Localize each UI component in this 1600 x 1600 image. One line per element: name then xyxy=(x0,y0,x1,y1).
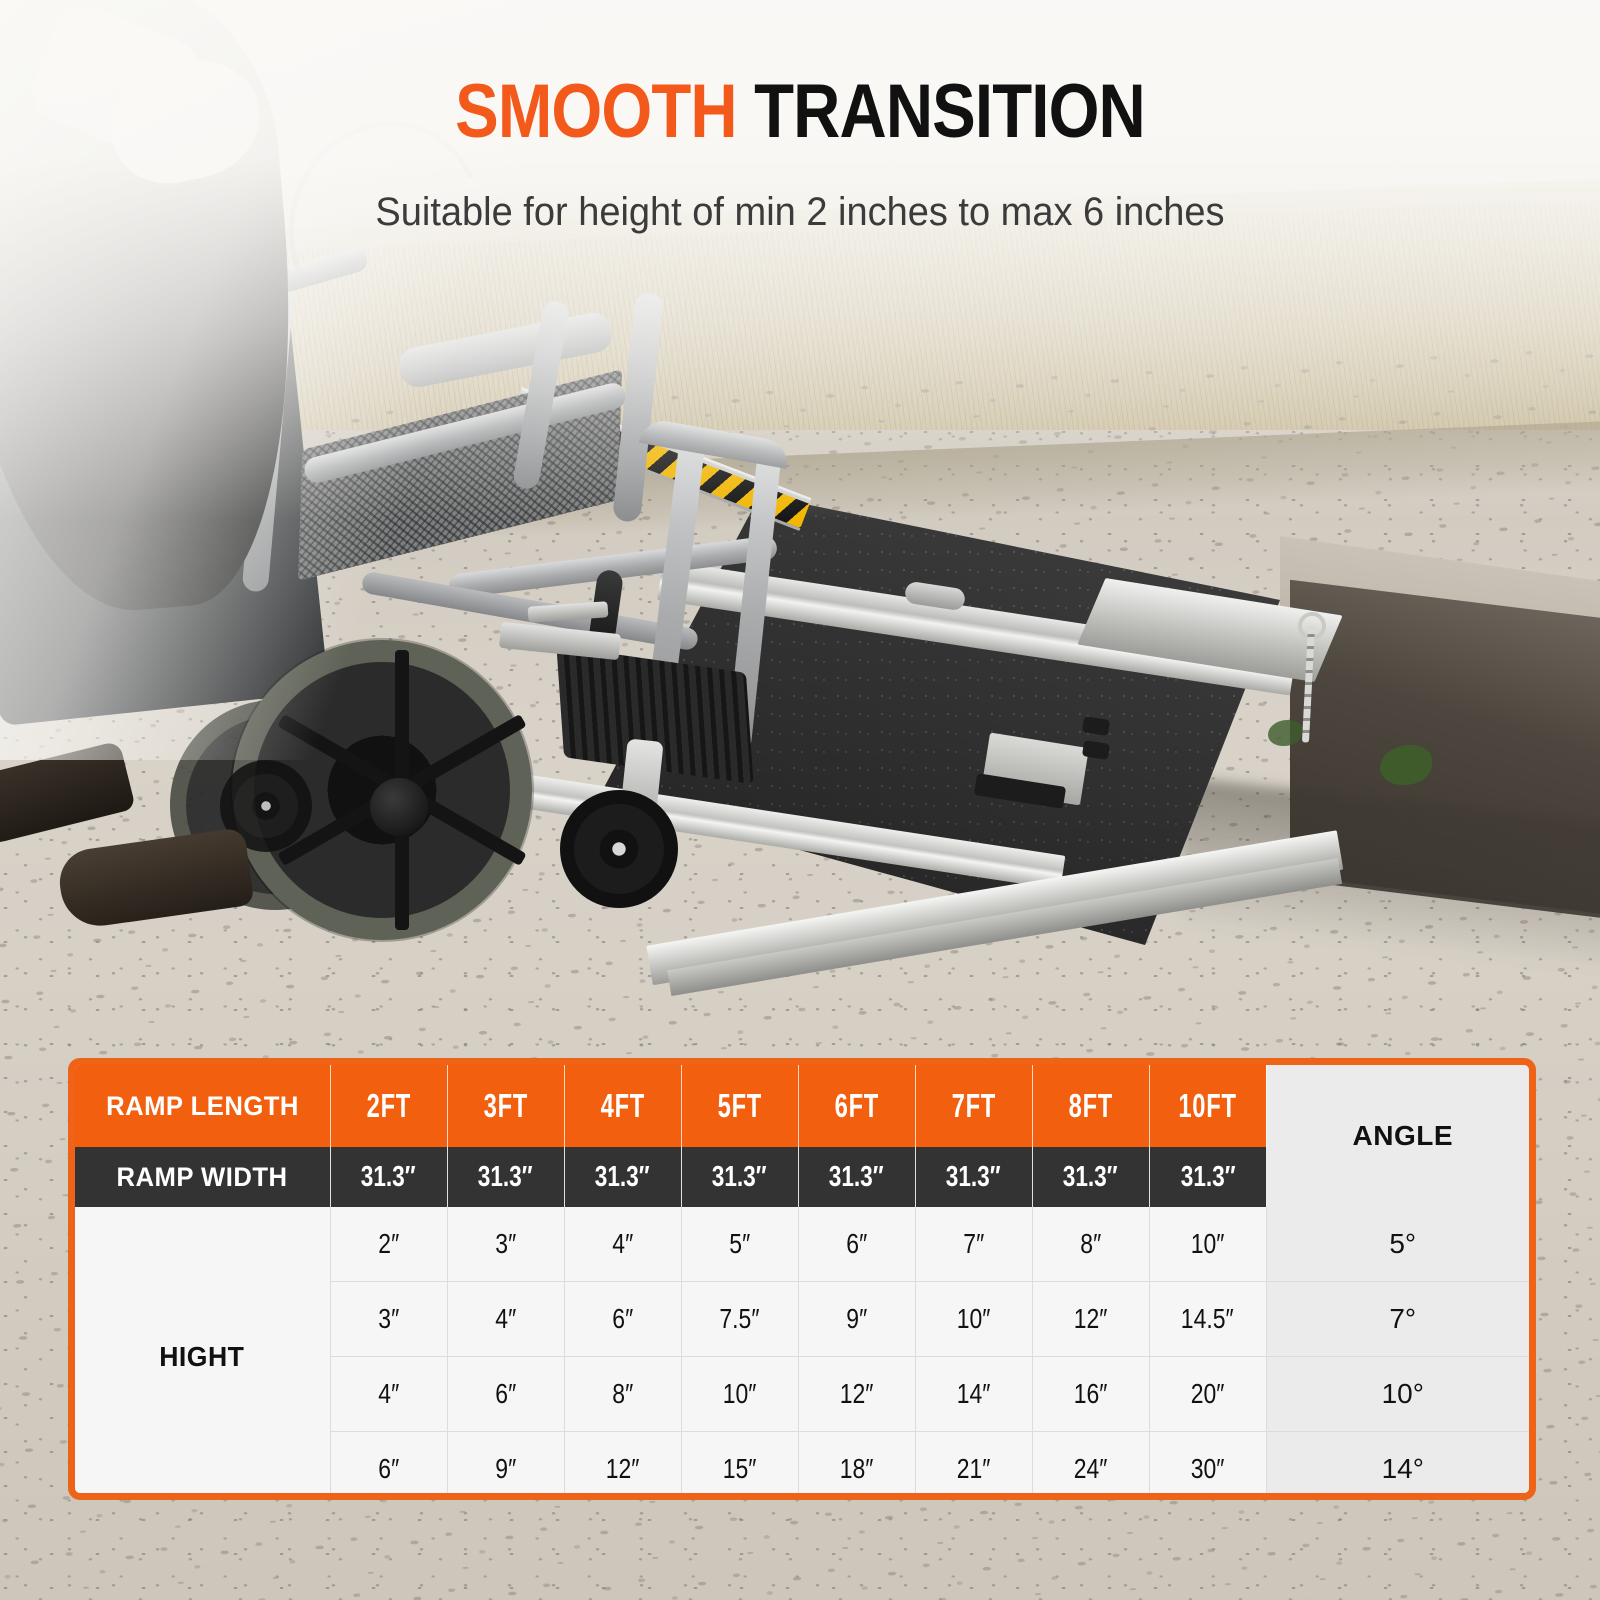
cell-h2-6: 16″ xyxy=(1032,1357,1149,1432)
width-5: 31.3″ xyxy=(915,1147,1032,1207)
header-length-5: 7FT xyxy=(915,1065,1032,1147)
header-length-0: 2FT xyxy=(330,1065,447,1147)
header-ramp-length: RAMP LENGTH xyxy=(75,1065,330,1147)
cell-h2-0: 4″ xyxy=(330,1357,447,1432)
cell-h1-6: 12″ xyxy=(1032,1282,1149,1357)
width-4: 31.3″ xyxy=(798,1147,915,1207)
cell-h1-1: 4″ xyxy=(447,1282,564,1357)
cell-h0-3: 5″ xyxy=(681,1207,798,1282)
cell-angle-2: 10° xyxy=(1266,1357,1536,1432)
cell-h0-0: 2″ xyxy=(330,1207,447,1282)
header-length-2: 4FT xyxy=(564,1065,681,1147)
cell-h3-5: 21″ xyxy=(915,1432,1032,1501)
shoe xyxy=(55,827,254,931)
title-rest: TRANSITION xyxy=(754,69,1145,154)
cell-h1-3: 7.5″ xyxy=(681,1282,798,1357)
cell-angle-0: 5° xyxy=(1266,1207,1536,1282)
header-length-6: 8FT xyxy=(1032,1065,1149,1147)
cell-h0-6: 8″ xyxy=(1032,1207,1149,1282)
cell-h1-2: 6″ xyxy=(564,1282,681,1357)
cell-h0-4: 6″ xyxy=(798,1207,915,1282)
header-ramp-width: RAMP WIDTH xyxy=(75,1147,330,1207)
cell-h2-1: 6″ xyxy=(447,1357,564,1432)
header-length-1: 3FT xyxy=(447,1065,564,1147)
cell-h0-7: 10″ xyxy=(1149,1207,1266,1282)
cell-h3-2: 12″ xyxy=(564,1432,681,1501)
cell-h2-3: 10″ xyxy=(681,1357,798,1432)
page-title: SMOOTH TRANSITION xyxy=(112,74,1488,150)
cell-h2-5: 14″ xyxy=(915,1357,1032,1432)
table-header-lengths: RAMP LENGTH 2FT 3FT 4FT 5FT 6FT 7FT 8FT … xyxy=(75,1065,1536,1147)
header-angle: ANGLE xyxy=(1266,1065,1536,1207)
cell-h1-0: 3″ xyxy=(330,1282,447,1357)
header-length-7: 10FT xyxy=(1149,1065,1266,1147)
header-ramp-width-label: RAMP WIDTH xyxy=(117,1162,288,1193)
cell-h3-6: 24″ xyxy=(1032,1432,1149,1501)
cell-h3-4: 18″ xyxy=(798,1432,915,1501)
cell-h3-3: 15″ xyxy=(681,1432,798,1501)
cell-angle-3: 14° xyxy=(1266,1432,1536,1501)
marketing-infographic: SMOOTH TRANSITION Suitable for height of… xyxy=(0,0,1600,1600)
width-2: 31.3″ xyxy=(564,1147,681,1207)
header-length-4: 6FT xyxy=(798,1065,915,1147)
header-length-3: 5FT xyxy=(681,1065,798,1147)
cell-h1-5: 10″ xyxy=(915,1282,1032,1357)
width-3: 31.3″ xyxy=(681,1147,798,1207)
wheel-hub xyxy=(370,778,428,836)
cell-h3-7: 30″ xyxy=(1149,1432,1266,1501)
header-angle-label: ANGLE xyxy=(1353,1120,1454,1151)
cell-h0-5: 7″ xyxy=(915,1207,1032,1282)
width-0: 31.3″ xyxy=(330,1147,447,1207)
cell-h3-1: 9″ xyxy=(447,1432,564,1501)
cell-h0-1: 3″ xyxy=(447,1207,564,1282)
spec-table: RAMP LENGTH 2FT 3FT 4FT 5FT 6FT 7FT 8FT … xyxy=(68,1058,1536,1500)
cell-h2-7: 20″ xyxy=(1149,1357,1266,1432)
title-highlight: SMOOTH xyxy=(455,69,737,154)
row-label-hight-text: HIGHT xyxy=(160,1341,245,1373)
width-7: 31.3″ xyxy=(1149,1147,1266,1207)
width-6: 31.3″ xyxy=(1032,1147,1149,1207)
cell-h1-7: 14.5″ xyxy=(1149,1282,1266,1357)
cell-angle-1: 7° xyxy=(1266,1282,1536,1357)
table-row: HIGHT 2″ 3″ 4″ 5″ 6″ 7″ 8″ 10″ 5° xyxy=(75,1207,1536,1282)
cell-h1-4: 9″ xyxy=(798,1282,915,1357)
cell-h3-0: 6″ xyxy=(330,1432,447,1501)
front-caster-wheel xyxy=(560,790,678,908)
cell-h0-2: 4″ xyxy=(564,1207,681,1282)
cell-h2-2: 8″ xyxy=(564,1357,681,1432)
header-ramp-length-label: RAMP LENGTH xyxy=(106,1091,299,1122)
width-1: 31.3″ xyxy=(447,1147,564,1207)
cell-h2-4: 12″ xyxy=(798,1357,915,1432)
page-subtitle: Suitable for height of min 2 inches to m… xyxy=(40,190,1560,235)
row-label-hight: HIGHT xyxy=(75,1207,330,1500)
